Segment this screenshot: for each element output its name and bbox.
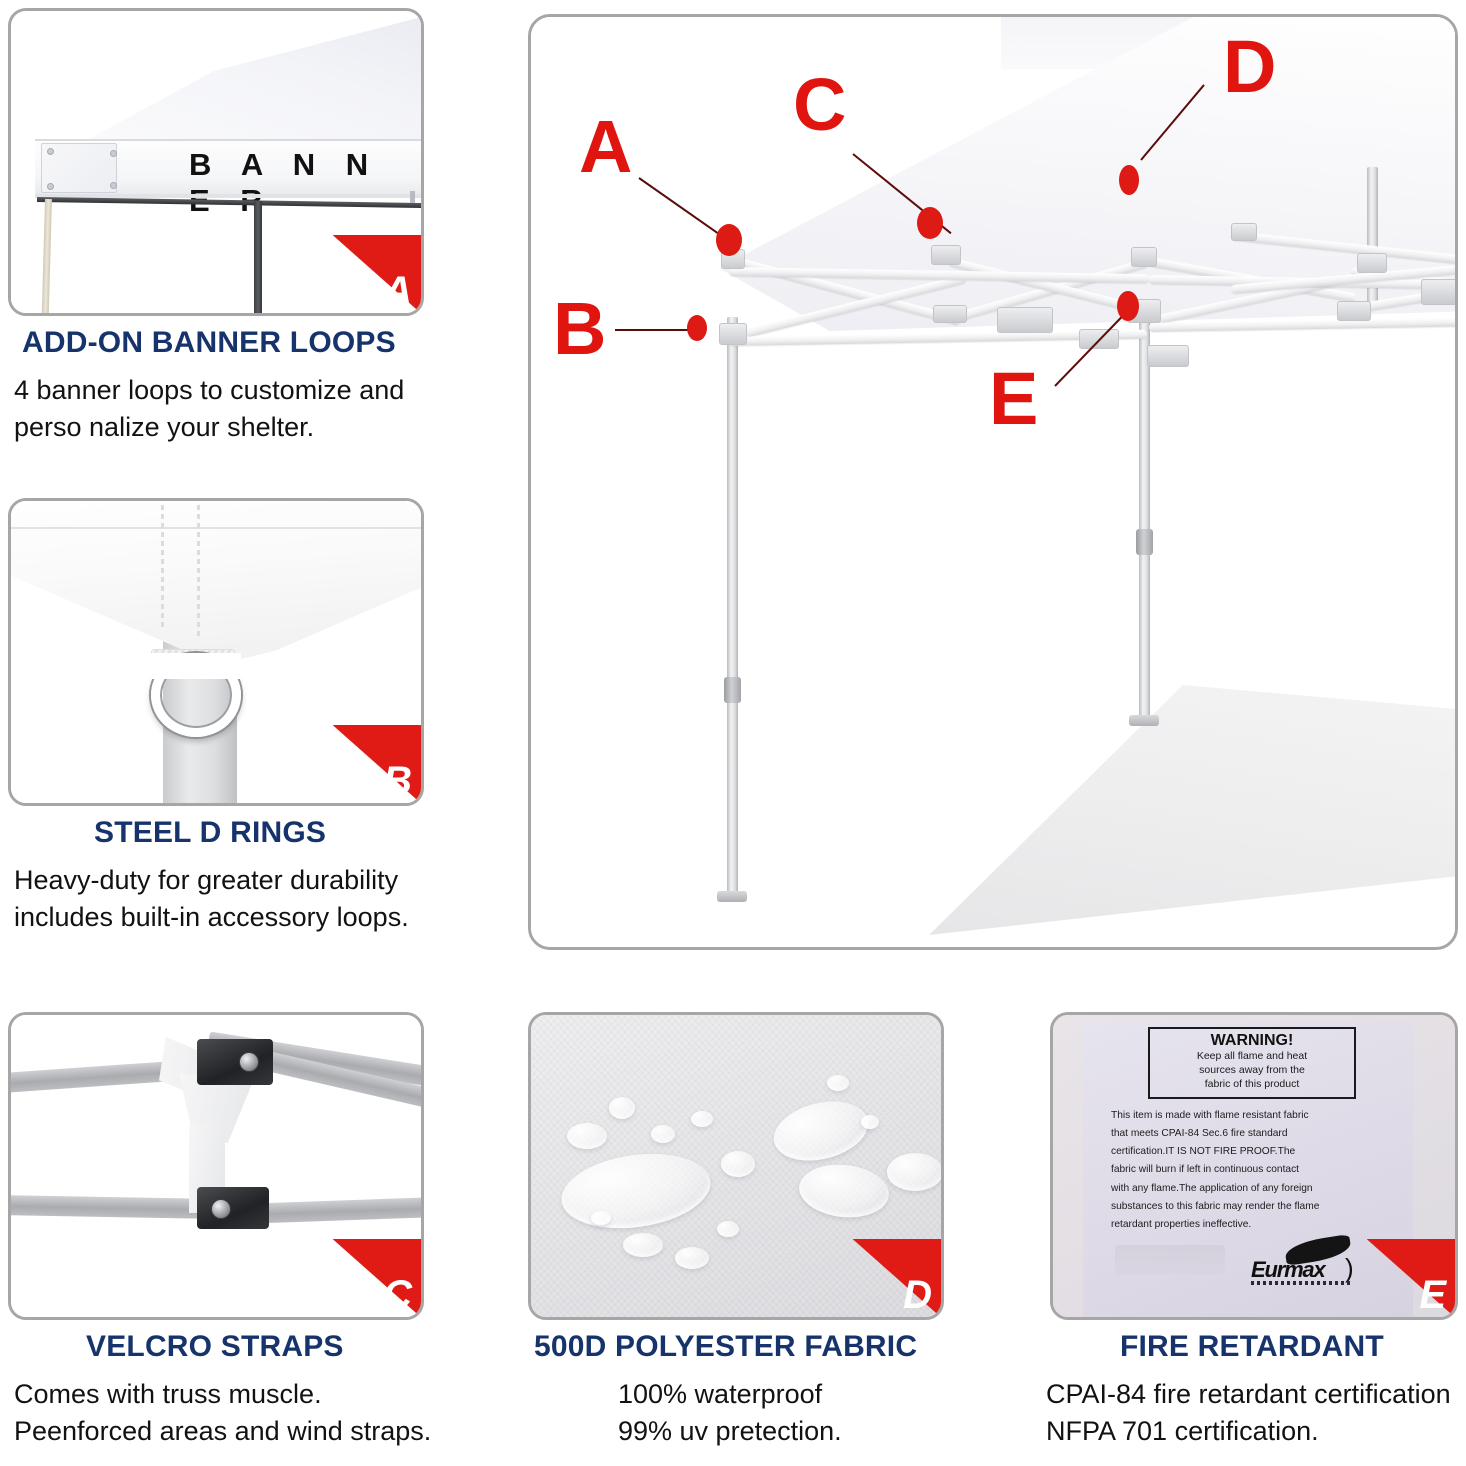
leader-line-b — [615, 329, 691, 331]
feature-panel-velcro-straps: C — [8, 1012, 424, 1320]
feature-body-line: NFPA 701 certification. — [1046, 1413, 1451, 1450]
feature-body-polyester-fabric: 100% waterproof 99% uv pretection. — [618, 1376, 842, 1451]
feature-body-line: 4 banner loops to customize and — [14, 372, 404, 409]
water-droplet — [717, 1221, 739, 1237]
infographic-page: B A N N E R A ADD-ON BANNER LOOPS 4 bann… — [0, 0, 1466, 1466]
background-watermark — [1115, 1245, 1225, 1275]
warning-paragraph-line: that meets CPAI-84 Sec.6 fire standard — [1111, 1125, 1401, 1143]
marker-dot-d — [1119, 165, 1139, 195]
canopy-illustration: A B C D E — [531, 17, 1455, 947]
warning-box: WARNING! Keep all flame and heat sources… — [1148, 1027, 1356, 1099]
feature-body-velcro-straps: Comes with truss muscle. Peenforced area… — [14, 1376, 431, 1451]
water-droplet — [887, 1153, 941, 1191]
velcro-straps-photo — [11, 1015, 421, 1317]
feature-title-steel-d-rings: STEEL D RINGS — [94, 816, 326, 850]
water-droplet — [567, 1123, 607, 1149]
feature-body-line: Peenforced areas and wind straps. — [14, 1413, 431, 1450]
grommet-icon — [110, 150, 117, 157]
leg-height-adjuster — [724, 677, 741, 703]
feature-body-banner-loops: 4 banner loops to customize and perso na… — [14, 372, 404, 447]
water-droplet — [609, 1097, 635, 1119]
feature-panel-banner-loops: B A N N E R A — [8, 8, 424, 316]
water-droplet — [591, 1211, 611, 1225]
marker-dot-a — [716, 224, 742, 256]
logo-swoosh-icon: ) — [1345, 1253, 1354, 1284]
banner-text: B A N N E R — [189, 147, 421, 219]
feature-title-banner-loops: ADD-ON BANNER LOOPS — [22, 326, 396, 360]
feature-body-line: Heavy-duty for greater durability — [14, 862, 409, 899]
canopy-leg-front-left — [727, 317, 738, 897]
water-droplet — [861, 1115, 879, 1129]
feature-body-line: Comes with truss muscle. — [14, 1376, 431, 1413]
water-droplet — [651, 1125, 675, 1143]
feature-panel-polyester-fabric: D — [528, 1012, 944, 1320]
fabric-seam — [11, 527, 421, 529]
feature-title-fire-retardant: FIRE RETARDANT — [1120, 1330, 1384, 1364]
warning-paragraph-line: fabric will burn if left in continuous c… — [1111, 1161, 1401, 1179]
feature-body-line: perso nalize your shelter. — [14, 409, 404, 446]
polyester-fabric-photo — [531, 1015, 941, 1317]
steel-d-ring — [151, 653, 241, 737]
frame-edge-right — [410, 191, 415, 203]
warning-paragraph-line: with any flame.The application of any fo… — [1111, 1180, 1401, 1198]
grommet-icon — [47, 183, 54, 190]
grommet-icon — [110, 182, 117, 189]
frame-connector — [997, 307, 1053, 333]
feature-title-velcro-straps: VELCRO STRAPS — [86, 1330, 344, 1364]
eurmax-logo: Eurmax ) — [1249, 1241, 1357, 1287]
steel-d-ring-photo — [11, 501, 421, 803]
feature-body-line: 99% uv pretection. — [618, 1413, 842, 1450]
feature-panel-steel-d-rings: B — [8, 498, 424, 806]
feature-body-fire-retardant: CPAI-84 fire retardant certification NFP… — [1046, 1376, 1451, 1451]
brand-wordmark: Eurmax — [1251, 1257, 1325, 1283]
frame-connector — [1147, 345, 1189, 367]
frame-connector — [1421, 279, 1455, 305]
marker-letter-c: C — [793, 75, 846, 134]
marker-dot-b — [687, 315, 707, 341]
frame-connector — [933, 305, 967, 323]
feature-body-line: 100% waterproof — [618, 1376, 842, 1413]
water-droplet — [675, 1247, 709, 1269]
water-droplet — [623, 1233, 663, 1257]
marker-dot-e — [1117, 291, 1139, 321]
feature-body-line: includes built-in accessory loops. — [14, 899, 409, 936]
canopy-leg-back-left — [1139, 313, 1150, 721]
marker-letter-a: A — [579, 117, 632, 176]
marker-letter-d: D — [1223, 37, 1276, 96]
clamp-bolt-icon — [211, 1199, 231, 1219]
marker-letter-b: B — [553, 299, 606, 358]
water-droplet — [721, 1151, 755, 1177]
water-droplet — [827, 1075, 849, 1091]
canopy-leg-middle — [254, 201, 262, 313]
warning-paragraph-line: retardant properties ineffective. — [1111, 1216, 1401, 1234]
banner-loops-photo: B A N N E R — [11, 11, 421, 313]
fire-retardant-label-photo: WARNING! Keep all flame and heat sources… — [1053, 1015, 1455, 1317]
water-droplet — [691, 1111, 713, 1127]
grommet-icon — [47, 148, 54, 155]
frame-connector — [719, 323, 747, 345]
warning-paragraph: This item is made with flame resistant f… — [1111, 1107, 1401, 1234]
warning-paragraph-line: substances to this fabric may render the… — [1111, 1198, 1401, 1216]
feature-body-steel-d-rings: Heavy-duty for greater durability includ… — [14, 862, 409, 937]
leg-foot — [717, 891, 747, 902]
logo-underline — [1251, 1281, 1351, 1285]
feature-panel-fire-retardant: WARNING! Keep all flame and heat sources… — [1050, 1012, 1458, 1320]
fabric-stitching — [197, 501, 200, 637]
truss-clamp-upper — [197, 1039, 273, 1085]
marker-dot-c — [917, 207, 943, 239]
leg-foot — [1129, 715, 1159, 726]
feature-body-line: CPAI-84 fire retardant certification — [1046, 1376, 1451, 1413]
frame-connector — [931, 245, 961, 265]
truss-clamp-lower — [197, 1187, 269, 1229]
fabric-stitching — [161, 501, 164, 629]
leg-height-adjuster — [1136, 529, 1153, 555]
main-canopy-diagram: A B C D E — [528, 14, 1458, 950]
frame-connector — [1357, 253, 1387, 273]
frame-connector — [1131, 247, 1157, 267]
marker-letter-e: E — [989, 369, 1038, 428]
warning-line: fabric of this product — [1150, 1078, 1354, 1092]
truss-bar — [11, 1195, 217, 1219]
warning-paragraph-line: certification.IT IS NOT FIRE PROOF.The — [1111, 1143, 1401, 1161]
warning-line: sources away from the — [1150, 1064, 1354, 1078]
frame-connector — [1231, 223, 1257, 241]
warning-paragraph-line: This item is made with flame resistant f… — [1111, 1107, 1401, 1125]
warning-line: Keep all flame and heat — [1150, 1050, 1354, 1064]
feature-title-polyester-fabric: 500D POLYESTER FABRIC — [534, 1330, 917, 1364]
frame-connector — [1337, 301, 1371, 321]
warning-heading: WARNING! — [1150, 1032, 1354, 1050]
clamp-bolt-icon — [239, 1052, 259, 1072]
